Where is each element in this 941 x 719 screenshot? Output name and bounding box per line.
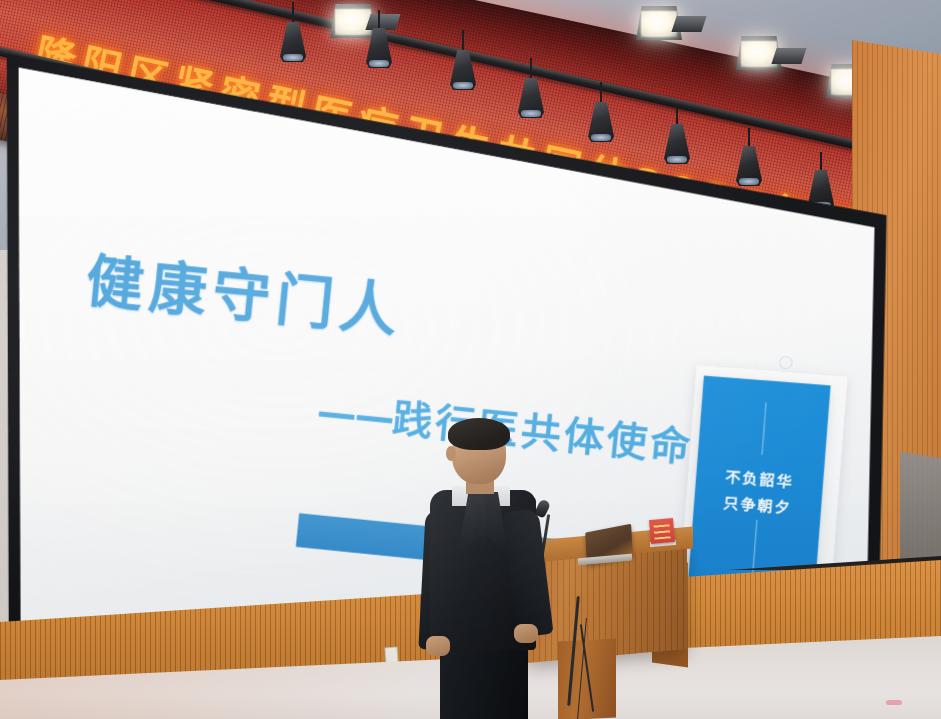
card-divider-line-top [761,403,766,455]
slide-corner-mark-icon [779,356,793,370]
presenter-figure [418,418,568,719]
presenter-left-hand [426,636,450,656]
presenter-legs [440,642,528,719]
card-divider-line-bottom [752,520,757,572]
slide-subtitle-dash: —— [315,389,395,442]
slide-title: 健康守门人 [83,234,408,348]
motto-line-2: 只争朝夕 [693,490,821,521]
motto-line-1: 不负韶华 [695,464,823,495]
conference-hall-photo: 隆阳区紧密型医疗卫生共同体2024年新进职工岗前培训 [0,0,941,719]
fixture-hanger [292,2,294,24]
floor-marking [886,700,902,705]
presenter-right-hand [514,624,538,643]
fixture-hanger [378,10,380,30]
red-name-card [649,518,675,544]
presenter-hair [448,418,510,450]
presenter-ear [446,446,456,461]
